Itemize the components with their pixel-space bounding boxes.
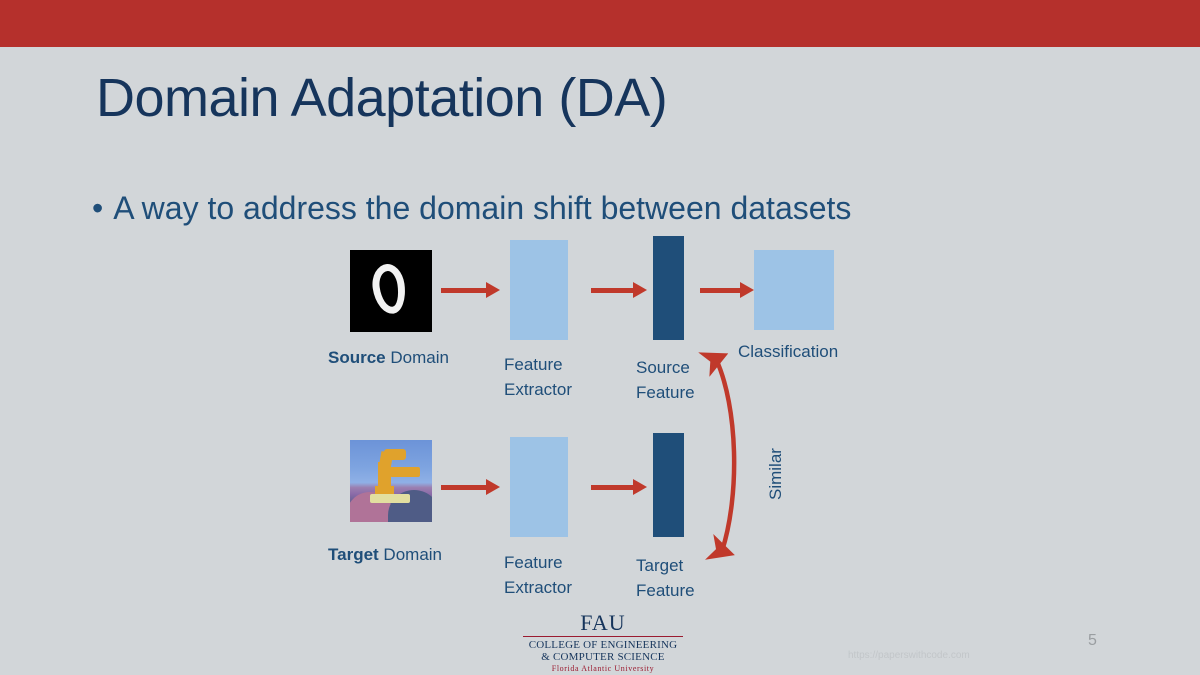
dinosaur-toy-head-icon: [384, 449, 406, 460]
source-feature-extractor-label: Feature Extractor: [504, 352, 572, 402]
fau-university-name: Florida Atlantic University: [513, 663, 693, 674]
target-feature-extractor-label: Feature Extractor: [504, 550, 572, 600]
bullet-text: A way to address the domain shift betwee…: [113, 190, 851, 226]
target-feature-label-line2: Feature: [636, 578, 695, 603]
target-domain-label: Target Domain: [328, 542, 442, 567]
mnist-digit-zero-icon: [370, 262, 409, 316]
source-extractor-label-line2: Extractor: [504, 377, 572, 402]
page-title: Domain Adaptation (DA): [96, 66, 667, 130]
target-extractor-label-line2: Extractor: [504, 575, 572, 600]
fau-logo: FAU COLLEGE OF ENGINEERING & COMPUTER SC…: [513, 612, 693, 668]
logo-divider: [523, 636, 683, 637]
page-number: 5: [1088, 632, 1097, 650]
target-domain-label-bold: Target: [328, 545, 379, 564]
arrow-target-extractor-to-feature: [591, 485, 634, 490]
fau-acronym: FAU: [513, 612, 693, 634]
arrow-target-image-to-extractor: [441, 485, 487, 490]
bullet-item: •A way to address the domain shift betwe…: [92, 188, 851, 228]
arrow-source-feature-to-classification: [700, 288, 741, 293]
classification-block: [754, 250, 834, 330]
target-feature-label-line1: Target: [636, 553, 695, 578]
fau-college-line1: COLLEGE OF ENGINEERING: [513, 639, 693, 651]
source-feature-label-line1: Source: [636, 355, 695, 380]
source-feature-label: Source Feature: [636, 355, 695, 405]
source-domain-label-bold: Source: [328, 348, 386, 367]
target-feature-label: Target Feature: [636, 553, 695, 603]
bullet-marker: •: [92, 188, 103, 228]
target-domain-image: [350, 440, 432, 522]
source-feature-label-line2: Feature: [636, 380, 695, 405]
arrow-source-extractor-to-feature: [591, 288, 634, 293]
fau-college-line2: & COMPUTER SCIENCE: [513, 651, 693, 663]
target-extractor-label-line1: Feature: [504, 550, 572, 575]
source-attribution: https://paperswithcode.com: [848, 650, 970, 661]
top-banner: [0, 0, 1200, 47]
dinosaur-toy-arm-icon: [390, 467, 420, 477]
target-feature-block: [653, 433, 684, 537]
source-domain-label-rest: Domain: [386, 348, 449, 367]
source-domain-image: [350, 250, 432, 332]
target-feature-extractor-block: [510, 437, 568, 537]
source-extractor-label-line1: Feature: [504, 352, 572, 377]
dinosaur-toy-base-icon: [370, 494, 410, 503]
slide: Domain Adaptation (DA) •A way to address…: [0, 0, 1200, 675]
target-domain-label-rest: Domain: [379, 545, 442, 564]
source-feature-extractor-block: [510, 240, 568, 340]
source-feature-block: [653, 236, 684, 340]
similarity-label: Similar: [766, 448, 786, 500]
arrow-source-image-to-extractor: [441, 288, 487, 293]
source-domain-label: Source Domain: [328, 345, 449, 370]
